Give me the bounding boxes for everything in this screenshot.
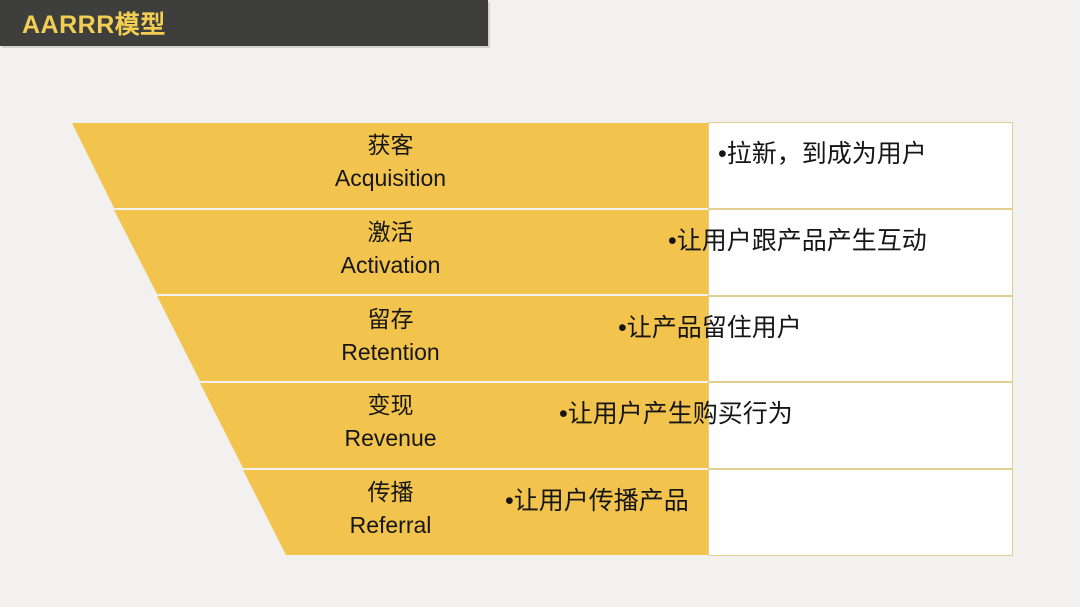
bullet-text-retention: 让产品留住用户 bbox=[627, 314, 802, 342]
bullet-activation: •让用户跟产品产生互动 bbox=[668, 229, 927, 254]
stage-label-retention: 留存 Retention bbox=[258, 308, 523, 364]
bullet-text-revenue: 让用户产生购买行为 bbox=[568, 400, 793, 428]
aarrr-funnel-diagram: 获客 Acquisition 激活 Activation 留存 Retentio… bbox=[0, 0, 1080, 607]
bullet-dot-icon: • bbox=[668, 227, 677, 255]
stage-label-en-acquisition: Acquisition bbox=[258, 167, 523, 190]
detail-row-referral bbox=[708, 469, 1013, 556]
bullet-acquisition: •拉新，到成为用户 bbox=[718, 142, 927, 167]
bullet-text-acquisition: 拉新，到成为用户 bbox=[727, 140, 927, 168]
stage-label-activation: 激活 Activation bbox=[258, 221, 523, 277]
bullet-text-referral: 让用户传播产品 bbox=[514, 487, 689, 515]
stage-label-cn-referral: 传播 bbox=[258, 481, 523, 504]
bullet-dot-icon: • bbox=[559, 400, 568, 428]
bullet-dot-icon: • bbox=[718, 140, 727, 168]
stage-label-en-retention: Retention bbox=[258, 341, 523, 364]
stage-label-referral: 传播 Referral bbox=[258, 481, 523, 537]
stage-label-cn-retention: 留存 bbox=[258, 308, 523, 331]
stage-label-en-revenue: Revenue bbox=[258, 427, 523, 450]
bullet-referral: •让用户传播产品 bbox=[505, 489, 689, 514]
stage-label-en-referral: Referral bbox=[258, 514, 523, 537]
stage-label-cn-revenue: 变现 bbox=[258, 394, 523, 417]
stage-label-revenue: 变现 Revenue bbox=[258, 394, 523, 450]
bullet-text-activation: 让用户跟产品产生互动 bbox=[677, 227, 927, 255]
bullet-revenue: •让用户产生购买行为 bbox=[559, 402, 793, 427]
bullet-dot-icon: • bbox=[505, 487, 514, 515]
stage-label-cn-acquisition: 获客 bbox=[258, 134, 523, 157]
stage-label-acquisition: 获客 Acquisition bbox=[258, 134, 523, 190]
stage-label-cn-activation: 激活 bbox=[258, 221, 523, 244]
bullet-dot-icon: • bbox=[618, 314, 627, 342]
stage-label-en-activation: Activation bbox=[258, 254, 523, 277]
bullet-retention: •让产品留住用户 bbox=[618, 316, 802, 341]
